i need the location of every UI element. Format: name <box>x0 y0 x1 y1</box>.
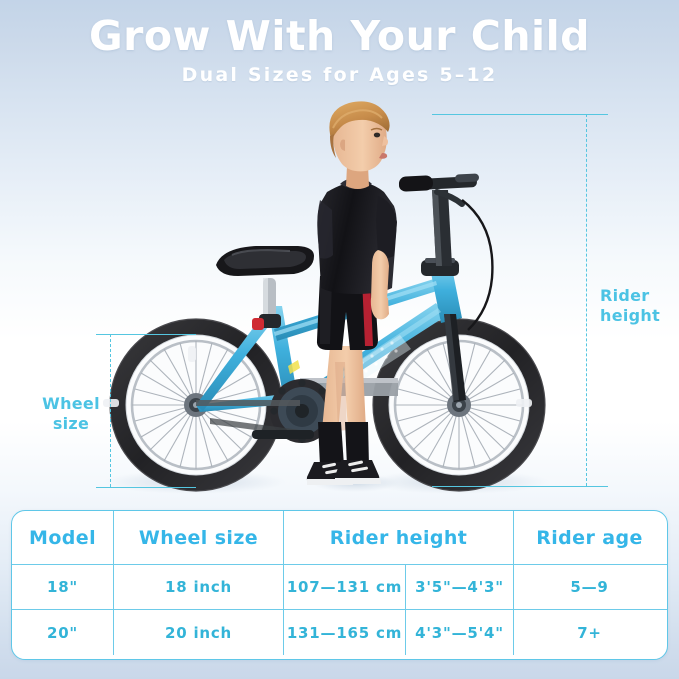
rider-height-top-line <box>432 114 608 115</box>
wheel-size-dashed-line <box>110 334 111 487</box>
cell-rider-age-18: 5—9 <box>514 565 665 609</box>
table-row: 18" 18 inch 107—131 cm 3'5"—4'3" 5—9 <box>12 565 667 610</box>
table-header-model: Model <box>12 511 114 564</box>
wheel-size-label-line2: size <box>40 414 102 434</box>
product-infographic: Grow With Your Child Dual Sizes for Ages… <box>0 0 679 679</box>
table-header-rider-age: Rider age <box>514 511 665 564</box>
wheel-size-label: Wheel size <box>40 394 102 434</box>
bike-and-rider-illustration <box>0 100 679 500</box>
header: Grow With Your Child Dual Sizes for Ages… <box>0 0 679 87</box>
saddle <box>216 246 314 330</box>
wheel-size-top-line <box>96 334 196 335</box>
cell-rider-height-ft-20: 4'3"—5'4" <box>406 610 514 655</box>
cell-wheel-size-18: 18 inch <box>114 565 284 609</box>
table-header-rider-height: Rider height <box>284 511 514 564</box>
table-header-row: Model Wheel size Rider height Rider age <box>12 511 667 565</box>
product-photo-stage <box>0 100 679 500</box>
cell-rider-height-cm-18: 107—131 cm <box>284 565 406 609</box>
table-header-wheel-size: Wheel size <box>114 511 284 564</box>
page-subtitle: Dual Sizes for Ages 5–12 <box>0 59 679 87</box>
wheel-size-bottom-line <box>96 487 196 488</box>
cell-model-20: 20" <box>12 610 114 655</box>
page-title: Grow With Your Child <box>0 0 679 59</box>
cell-model-18: 18" <box>12 565 114 609</box>
cell-wheel-size-20: 20 inch <box>114 610 284 655</box>
rider-height-label: Rider height <box>600 286 674 326</box>
wheel-size-label-line1: Wheel <box>40 394 102 414</box>
rider-height-bottom-line <box>432 486 608 487</box>
rider-height-dashed-line <box>586 114 587 486</box>
table-row: 20" 20 inch 131—165 cm 4'3"—5'4" 7+ <box>12 610 667 655</box>
rider-height-label-line1: Rider <box>600 286 674 306</box>
spec-table: Model Wheel size Rider height Rider age … <box>11 510 668 660</box>
rider-height-label-line2: height <box>600 306 674 326</box>
cell-rider-age-20: 7+ <box>514 610 665 655</box>
cell-rider-height-ft-18: 3'5"—4'3" <box>406 565 514 609</box>
cell-rider-height-cm-20: 131—165 cm <box>284 610 406 655</box>
